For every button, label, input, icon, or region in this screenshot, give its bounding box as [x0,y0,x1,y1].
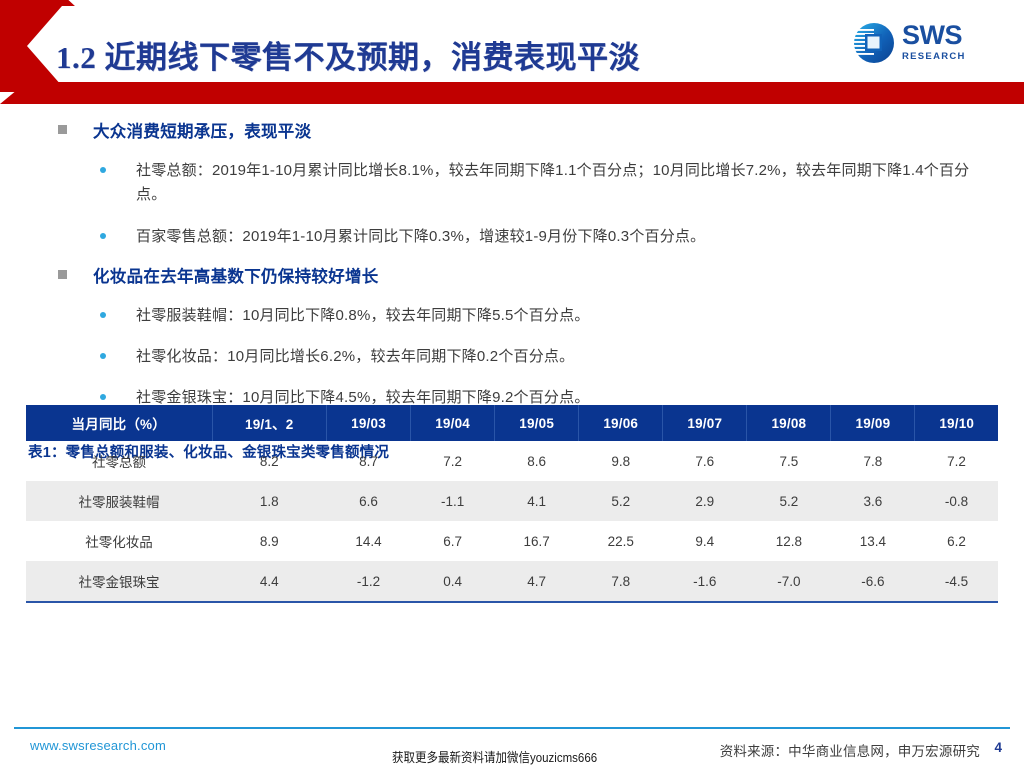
round-bullet-icon [100,312,106,318]
section-heading-2-label: 化妆品在去年高基数下仍保持较好增长 [93,263,379,287]
table-cell-3-5: -1.6 [663,561,747,602]
table-cell-1-2: -1.1 [411,481,495,521]
table-cell-3-2: 0.4 [411,561,495,602]
section-heading-2: 化妆品在去年高基数下仍保持较好增长 [58,263,1024,287]
round-bullet-icon [100,167,106,173]
section-1-bullet-2-text: 百家零售总额：2019年1-10月累计同比下降0.3%，增速较1-9月份下降0.… [136,225,705,249]
round-bullet-icon [100,233,106,239]
header-red-bar [0,82,1024,104]
table-cell-1-8: -0.8 [915,481,998,521]
table-header-cell-9: 19/10 [915,405,998,441]
section-2-bullet-1-text: 社零服装鞋帽：10月同比下降0.8%，较去年同期下降5.5个百分点。 [136,304,590,328]
table-cell-1-7: 3.6 [831,481,915,521]
table-header-cell-2: 19/03 [327,405,411,441]
round-bullet-icon [100,394,106,400]
table-row: 社零化妆品8.914.46.716.722.59.412.813.46.2 [26,521,998,561]
sws-logo: SWS RESEARCH [850,18,998,74]
table-header-cell-4: 19/05 [495,405,579,441]
table-cell-0-7: 7.8 [831,441,915,481]
table-row-label: 社零服装鞋帽 [26,481,212,521]
table-cell-3-8: -4.5 [915,561,998,602]
sws-circle-logo-icon [850,20,896,66]
table-row: 社零金银珠宝4.4-1.20.44.77.8-1.6-7.0-6.6-4.5 [26,561,998,602]
square-bullet-icon [58,125,67,134]
section-1-bullet-2: 百家零售总额：2019年1-10月累计同比下降0.3%，增速较1-9月份下降0.… [100,225,990,249]
table-cell-1-5: 2.9 [663,481,747,521]
slide-header: 1.2 近期线下零售不及预期，消费表现平淡 [0,0,1024,104]
table-cell-0-1: 8.7 [327,441,411,481]
table-cell-0-4: 9.8 [579,441,663,481]
sws-logo-wordmark: SWS [902,22,966,49]
footer-website-link[interactable]: www.swsresearch.com [30,738,166,753]
table-cell-0-3: 8.6 [495,441,579,481]
table-header-cell-8: 19/09 [831,405,915,441]
table-cell-0-6: 7.5 [747,441,831,481]
table-row-label: 社零化妆品 [26,521,212,561]
table-cell-3-1: -1.2 [327,561,411,602]
table-cell-2-0: 8.9 [212,521,327,561]
table-row: 社零总额8.28.77.28.69.87.67.57.87.2 [26,441,998,481]
table-header-cell-6: 19/07 [663,405,747,441]
table-header-row: 当月同比（%）19/1、219/0319/0419/0519/0619/0719… [26,405,998,441]
footer-divider [14,727,1010,729]
retail-data-table: 当月同比（%）19/1、219/0319/0419/0519/0619/0719… [26,405,998,603]
table-cell-2-4: 22.5 [579,521,663,561]
table-cell-1-3: 4.1 [495,481,579,521]
table-cell-1-6: 5.2 [747,481,831,521]
table-cell-3-7: -6.6 [831,561,915,602]
table-cell-3-0: 4.4 [212,561,327,602]
table-cell-0-5: 7.6 [663,441,747,481]
table-cell-2-6: 12.8 [747,521,831,561]
table-cell-1-0: 1.8 [212,481,327,521]
table-row-label: 社零总额 [26,441,212,481]
table-cell-3-3: 4.7 [495,561,579,602]
watermark-text: 获取更多最新资料请加微信youzicms666 [392,748,597,766]
table-cell-0-8: 7.2 [915,441,998,481]
section-1-bullet-1: 社零总额：2019年1-10月累计同比增长8.1%，较去年同期下降1.1个百分点… [100,159,990,208]
table-cell-2-3: 16.7 [495,521,579,561]
sws-logo-subtitle: RESEARCH [902,52,966,62]
square-bullet-icon [58,270,67,279]
table-cell-2-7: 13.4 [831,521,915,561]
section-1-bullet-1-text: 社零总额：2019年1-10月累计同比增长8.1%，较去年同期下降1.1个百分点… [136,159,990,208]
table-header-cell-3: 19/04 [411,405,495,441]
table-header-cell-7: 19/08 [747,405,831,441]
section-heading-1: 大众消费短期承压，表现平淡 [58,118,1024,142]
table-header-cell-1: 19/1、2 [212,405,327,441]
section-2-bullet-2: 社零化妆品：10月同比增长6.2%，较去年同期下降0.2个百分点。 [100,345,990,369]
table-row-label: 社零金银珠宝 [26,561,212,602]
table-cell-2-5: 9.4 [663,521,747,561]
table-cell-0-0: 8.2 [212,441,327,481]
footer-source-note: 资料来源：中华商业信息网，申万宏源研究 [720,740,980,760]
page-number: 4 [994,740,1002,755]
round-bullet-icon [100,353,106,359]
table-header-cell-0: 当月同比（%） [26,405,212,441]
table-header-cell-5: 19/06 [579,405,663,441]
page-title: 1.2 近期线下零售不及预期，消费表现平淡 [56,32,640,77]
table-cell-3-4: 7.8 [579,561,663,602]
section-2-bullet-1: 社零服装鞋帽：10月同比下降0.8%，较去年同期下降5.5个百分点。 [100,304,990,328]
sws-logo-text: SWS RESEARCH [902,22,966,62]
section-heading-1-label: 大众消费短期承压，表现平淡 [93,118,311,142]
table-cell-1-4: 5.2 [579,481,663,521]
table-cell-3-6: -7.0 [747,561,831,602]
section-2-bullet-2-text: 社零化妆品：10月同比增长6.2%，较去年同期下降0.2个百分点。 [136,345,574,369]
table-body: 社零总额8.28.77.28.69.87.67.57.87.2社零服装鞋帽1.8… [26,441,998,602]
table-cell-1-1: 6.6 [327,481,411,521]
table-cell-2-2: 6.7 [411,521,495,561]
table-cell-2-8: 6.2 [915,521,998,561]
table-cell-0-2: 7.2 [411,441,495,481]
table-cell-2-1: 14.4 [327,521,411,561]
table-row: 社零服装鞋帽1.86.6-1.14.15.22.95.23.6-0.8 [26,481,998,521]
